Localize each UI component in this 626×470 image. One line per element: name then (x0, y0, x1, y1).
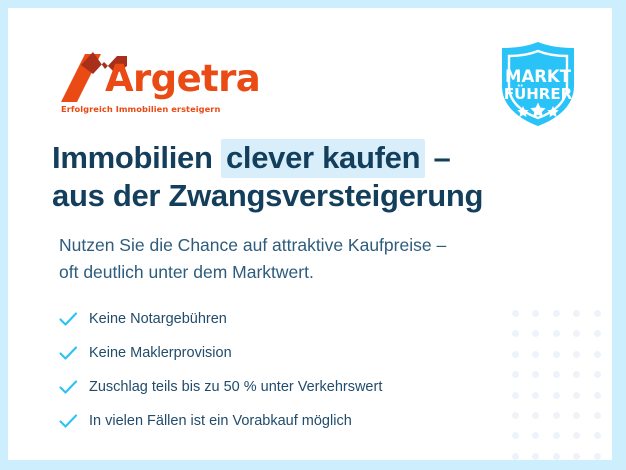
subheading-line-2: oft deutlich unter dem Marktwert. (59, 262, 314, 282)
dot (594, 412, 601, 419)
dot (532, 351, 539, 358)
dot (532, 330, 539, 337)
dot (573, 392, 580, 399)
dot (532, 453, 539, 460)
dot (594, 392, 601, 399)
headline-part-1: Immobilien (52, 140, 221, 175)
dot (512, 412, 519, 419)
dot-grid-pattern (512, 310, 612, 460)
dot (553, 392, 560, 399)
argetra-logo[interactable]: Argetra Erfolgreich Immobilien ersteiger… (59, 52, 219, 118)
dot (594, 351, 601, 358)
list-item: Zuschlag teils bis zu 50 % unter Verkehr… (59, 373, 479, 402)
dot (573, 310, 580, 317)
dot (512, 330, 519, 337)
dot (553, 432, 560, 439)
dot (532, 310, 539, 317)
page-subheading: Nutzen Sie die Chance auf attraktive Kau… (59, 232, 559, 286)
page-headline: Immobilien clever kaufen – aus der Zwang… (52, 139, 572, 215)
dot (594, 432, 601, 439)
dot (594, 453, 601, 460)
dot (512, 392, 519, 399)
dot (553, 412, 560, 419)
dot (553, 330, 560, 337)
list-item: In vielen Fällen ist ein Vorabkauf mögli… (59, 407, 479, 436)
dot (532, 371, 539, 378)
check-icon (59, 414, 89, 429)
dot (512, 310, 519, 317)
benefits-list: Keine Notargebühren Keine Maklerprovisio… (59, 305, 479, 441)
dot (553, 351, 560, 358)
dot (553, 371, 560, 378)
list-item: Keine Notargebühren (59, 305, 479, 334)
dot (573, 453, 580, 460)
check-icon (59, 312, 89, 327)
list-item: Keine Maklerprovision (59, 339, 479, 368)
dot (553, 453, 560, 460)
dot (532, 432, 539, 439)
headline-highlight: clever kaufen (221, 139, 425, 178)
dot (573, 371, 580, 378)
dot (532, 392, 539, 399)
dot (512, 432, 519, 439)
badge-line-1: MARKT (505, 67, 572, 86)
dot (594, 371, 601, 378)
headline-part-2: – (425, 140, 450, 175)
dot (512, 351, 519, 358)
dot (512, 371, 519, 378)
badge-line-2: FÜHRER (504, 84, 573, 103)
outer-frame: Argetra Erfolgreich Immobilien ersteiger… (0, 0, 626, 470)
dot (594, 310, 601, 317)
dot (512, 453, 519, 460)
dot (573, 351, 580, 358)
check-icon (59, 380, 89, 395)
dot (573, 330, 580, 337)
logo-tagline: Erfolgreich Immobilien ersteigern (61, 104, 220, 114)
dot (573, 412, 580, 419)
subheading-line-1: Nutzen Sie die Chance auf attraktive Kau… (59, 235, 446, 255)
dot (594, 330, 601, 337)
check-icon (59, 346, 89, 361)
list-item-label: Keine Maklerprovision (89, 345, 232, 362)
list-item-label: Keine Notargebühren (89, 311, 227, 328)
market-leader-badge: MARKT FÜHRER (492, 38, 584, 130)
dot (532, 412, 539, 419)
list-item-label: Zuschlag teils bis zu 50 % unter Verkehr… (89, 379, 382, 396)
list-item-label: In vielen Fällen ist ein Vorabkauf mögli… (89, 413, 352, 430)
dot (553, 310, 560, 317)
content-canvas: Argetra Erfolgreich Immobilien ersteiger… (8, 8, 612, 460)
logo-wordmark: Argetra (105, 60, 260, 97)
headline-line-2: aus der Zwangsversteigerung (52, 178, 483, 213)
dot (573, 432, 580, 439)
